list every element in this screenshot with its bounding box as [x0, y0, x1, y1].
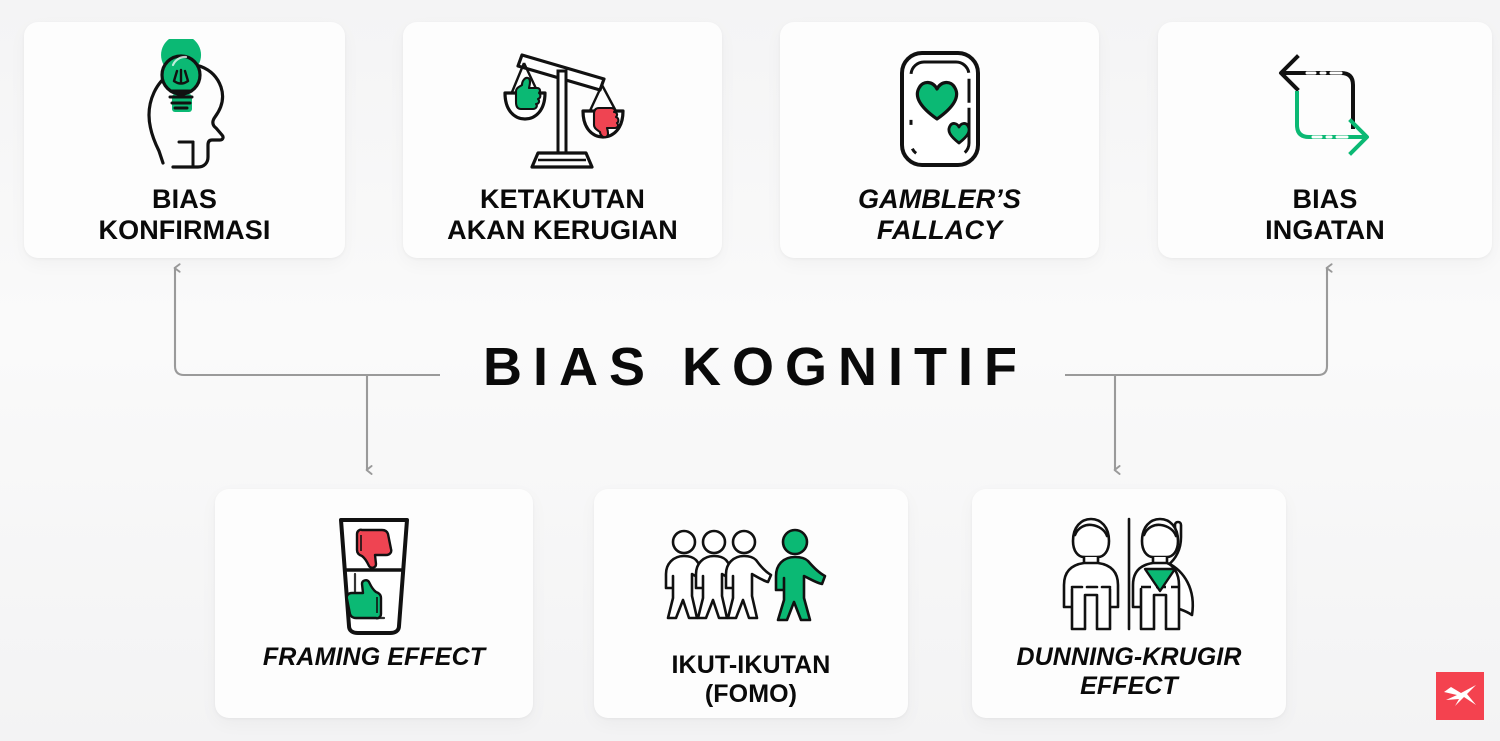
- balance-scale-thumbs-icon: [488, 39, 638, 179]
- card-icon-wrap: [215, 489, 533, 643]
- infographic-canvas: BIAS KONFIRMASI: [0, 0, 1500, 741]
- card-icon-wrap: [780, 22, 1099, 184]
- card-icon-wrap: [594, 489, 908, 651]
- card-label: BIAS KONFIRMASI: [99, 184, 271, 246]
- card-gamblers-fallacy[interactable]: GAMBLER’S FALLACY: [780, 22, 1099, 258]
- card-ikut-ikutan-fomo[interactable]: IKUT-IKUTAN (FOMO): [594, 489, 908, 718]
- glass-thumbs-icon: [314, 508, 434, 638]
- card-icon-wrap: [972, 489, 1286, 643]
- head-lightbulb-icon: [115, 39, 255, 179]
- card-label: IKUT-IKUTAN (FOMO): [672, 651, 831, 708]
- ordinary-person-figure: [1064, 519, 1118, 629]
- card-label: FRAMING EFFECT: [263, 643, 485, 672]
- card-icon-wrap: [1158, 22, 1492, 184]
- card-icon-wrap: [24, 22, 345, 184]
- crowd-walking-icon: [656, 526, 846, 636]
- superhero-figure: [1133, 519, 1193, 629]
- person-superhero-icon: [1042, 511, 1217, 636]
- card-label: GAMBLER’S FALLACY: [858, 184, 1021, 246]
- card-framing-effect[interactable]: FRAMING EFFECT: [215, 489, 533, 718]
- card-label: KETAKUTAN AKAN KERUGIAN: [447, 184, 678, 246]
- card-bias-ingatan[interactable]: BIAS INGATAN: [1158, 22, 1492, 258]
- card-label: DUNNING-KRUGIR EFFECT: [1017, 643, 1242, 700]
- card-icon-wrap: [403, 22, 722, 184]
- thumbs-up-green-icon: [516, 78, 540, 109]
- loop-arrows-icon: [1255, 39, 1395, 179]
- page-title: BIAS KOGNITIF: [0, 336, 1500, 398]
- card-dunning-krugir-effect[interactable]: DUNNING-KRUGIR EFFECT: [972, 489, 1286, 718]
- playing-card-hearts-icon: [880, 39, 1000, 179]
- card-bias-konfirmasi[interactable]: BIAS KONFIRMASI: [24, 22, 345, 258]
- x-bird-mark-icon: [1442, 681, 1478, 711]
- brand-logo[interactable]: [1436, 672, 1484, 720]
- leader-figure: [776, 530, 825, 620]
- card-label: BIAS INGATAN: [1265, 184, 1385, 246]
- card-ketakutan-akan-kerugian[interactable]: KETAKUTAN AKAN KERUGIAN: [403, 22, 722, 258]
